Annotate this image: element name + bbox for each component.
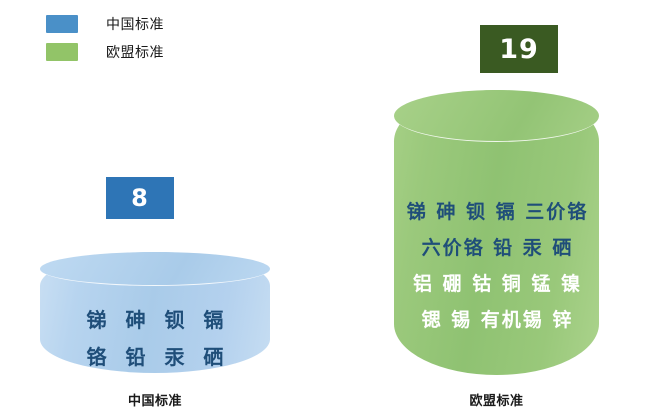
cylinder-eu-line-1: 锑 砷 钡 镉 三价铬 <box>394 194 599 230</box>
legend-item-eu: 欧盟标准 <box>46 38 164 66</box>
legend-item-china: 中国标准 <box>46 10 164 38</box>
cylinder-eu-text: 锑 砷 钡 镉 三价铬 六价铬 铅 汞 硒 铝 硼 钴 铜 锰 镍 锶 锡 有机… <box>394 194 599 338</box>
value-badge-eu: 19 <box>480 25 558 73</box>
legend: 中国标准 欧盟标准 <box>46 10 164 66</box>
cylinder-china: 锑 砷 钡 镉 铬 铅 汞 硒 <box>40 252 270 373</box>
caption-china: 中国标准 <box>40 390 270 409</box>
cylinder-eu: 锑 砷 钡 镉 三价铬 六价铬 铅 汞 硒 铝 硼 钴 铜 锰 镍 锶 锡 有机… <box>394 90 599 375</box>
legend-swatch-eu-icon <box>46 43 78 61</box>
value-badge-china: 8 <box>106 177 174 219</box>
cylinder-china-text: 锑 砷 钡 镉 铬 铅 汞 硒 <box>40 302 270 376</box>
cylinder-china-line-1: 锑 砷 钡 镉 <box>40 302 270 339</box>
caption-eu: 欧盟标准 <box>394 390 599 409</box>
cylinder-eu-top-ellipse <box>394 90 599 142</box>
legend-swatch-china-icon <box>46 15 78 33</box>
cylinder-eu-line-4: 锶 锡 有机锡 锌 <box>394 302 599 338</box>
legend-label-eu: 欧盟标准 <box>106 42 164 62</box>
legend-label-china: 中国标准 <box>106 14 164 34</box>
cylinder-china-top-ellipse <box>40 252 270 286</box>
cylinder-eu-line-2: 六价铬 铅 汞 硒 <box>394 230 599 266</box>
cylinder-china-line-2: 铬 铅 汞 硒 <box>40 339 270 376</box>
cylinder-eu-line-3: 铝 硼 钴 铜 锰 镍 <box>394 266 599 302</box>
